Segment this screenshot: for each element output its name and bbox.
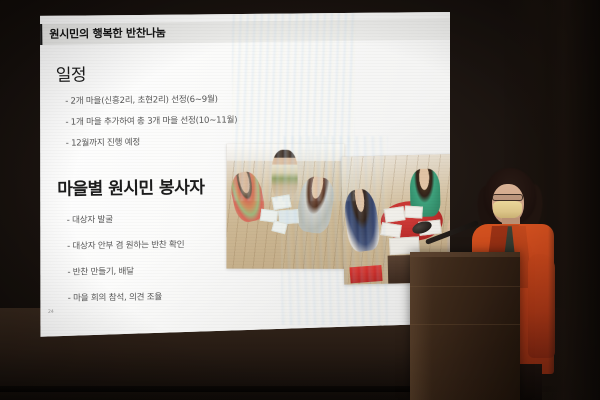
podium-panel-seam (410, 286, 520, 287)
paper-document (404, 205, 423, 218)
schedule-bullet-list: - 2개 마을(신흥2리, 초현2리) 선정(6~9월) - 1개 마을 추가하… (65, 92, 238, 157)
list-item: - 대상자 발굴 (67, 212, 184, 226)
list-item: - 2개 마을(신흥2리, 초현2리) 선정(6~9월) (65, 92, 237, 106)
red-floor-mat (349, 265, 382, 283)
list-item: - 1개 마을 추가하여 총 3개 마을 선정(10~11월) (65, 113, 237, 127)
face-mask (493, 201, 522, 219)
presentation-scene: 원시민의 행복한 반찬나눔 일정 - 2개 마을(신흥2리, 초현2리) 선정(… (0, 0, 600, 400)
glasses-icon (492, 194, 523, 201)
person-center (272, 150, 298, 198)
podium-top-surface (410, 252, 520, 257)
section-heading-schedule: 일정 (56, 60, 87, 85)
slide-content: 원시민의 행복한 반찬나눔 일정 - 2개 마을(신흥2리, 초현2리) 선정(… (38, 7, 454, 338)
paper-document (380, 222, 402, 238)
list-item: - 마을 회의 참석, 의견 조율 (68, 290, 185, 304)
list-item: - 12월까지 진행 예정 (66, 134, 238, 148)
room-pillar-right (548, 0, 600, 400)
list-item: - 반찬 만들기, 배달 (67, 264, 184, 278)
volunteer-bullet-list: - 대상자 발굴 - 대상자 안부 겸 원하는 반찬 확인 - 반찬 만들기, … (67, 212, 186, 318)
photo-group-on-floor (226, 144, 344, 269)
podium-panel-seam (410, 324, 520, 325)
podium-edge-highlight (410, 252, 432, 400)
list-item: - 대상자 안부 겸 원하는 반찬 확인 (67, 238, 184, 252)
paper-document (384, 206, 406, 223)
projection-screen: 원시민의 행복한 반찬나눔 일정 - 2개 마을(신흥2리, 초현2리) 선정(… (38, 12, 450, 338)
slide-surface: 원시민의 행복한 반찬나눔 일정 - 2개 마을(신흥2리, 초현2리) 선정(… (38, 12, 450, 338)
slide-title: 원시민의 행복한 반찬나눔 (49, 24, 166, 42)
slide-page-number: 24 (48, 310, 54, 315)
section-heading-volunteer: 마을별 원시민 봉사자 (57, 173, 204, 200)
